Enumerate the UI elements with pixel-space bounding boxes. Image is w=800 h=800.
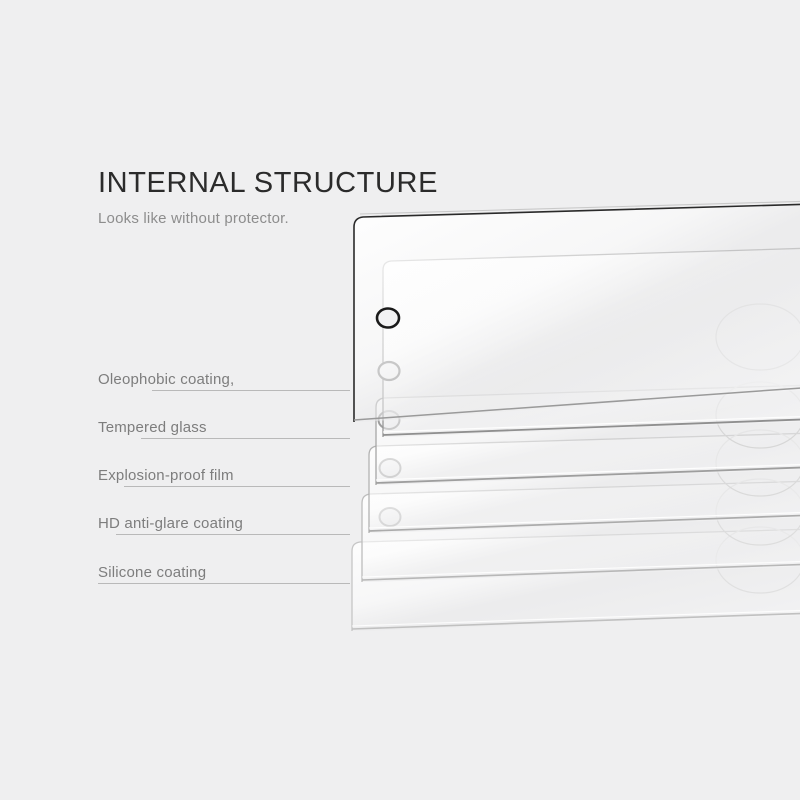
- glass-slab-1: [354, 201, 800, 422]
- heading-block: INTERNAL STRUCTURE Looks like without pr…: [98, 168, 618, 227]
- illustration-canvas: INTERNAL STRUCTURE Looks like without pr…: [0, 0, 800, 800]
- layer-leader-line: [98, 583, 350, 584]
- layer-label-text: HD anti-glare coating: [98, 513, 243, 535]
- layer-leader-line: [116, 534, 350, 535]
- layer-stack-diagram: [0, 0, 800, 800]
- layer-label-text: Tempered glass: [98, 417, 207, 439]
- layer-label-text: Explosion-proof film: [98, 465, 234, 487]
- page-title: INTERNAL STRUCTURE: [98, 168, 618, 198]
- layer-label-text: Oleophobic coating,: [98, 369, 234, 391]
- page-subtitle: Looks like without protector.: [98, 210, 618, 227]
- camera-cutout-1: [377, 309, 399, 328]
- layer-leader-line: [141, 438, 350, 439]
- layer-label-text: Silicone coating: [98, 562, 206, 584]
- layer-leader-line: [124, 486, 350, 487]
- layer-leader-line: [152, 390, 350, 391]
